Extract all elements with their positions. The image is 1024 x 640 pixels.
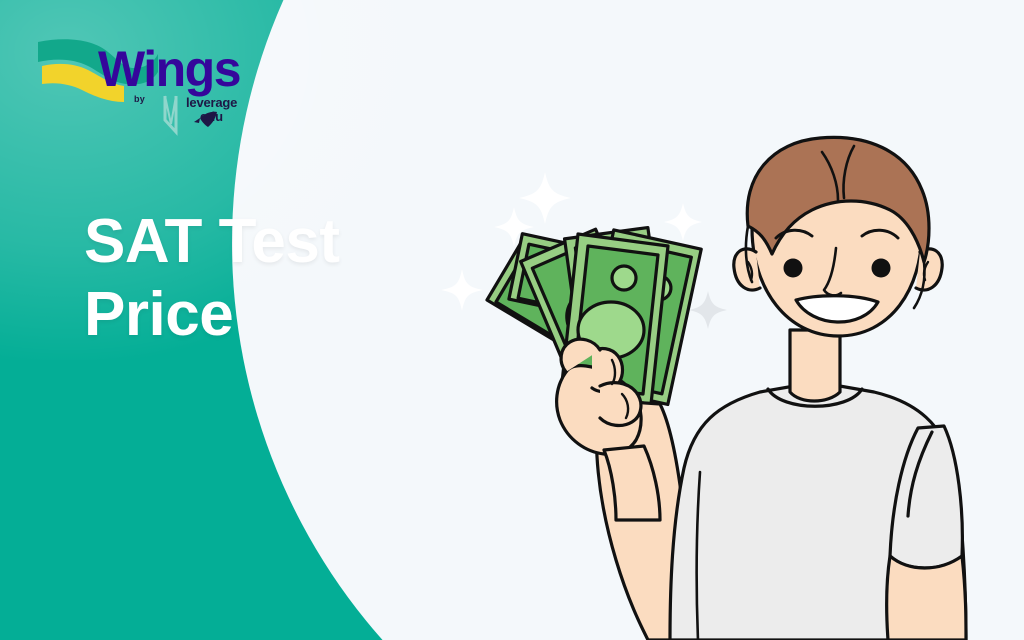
- logo-wordmark: Wings: [98, 44, 240, 94]
- person-figure: [557, 137, 966, 640]
- neck: [790, 330, 840, 401]
- page-title: SAT Test Price: [84, 206, 464, 351]
- right-forearm: [887, 556, 966, 640]
- right-ear: [916, 249, 942, 290]
- middle-finger: [600, 383, 641, 426]
- sparkle-icon: [519, 172, 571, 224]
- right-eye: [872, 259, 891, 278]
- logo-by-label: by: [134, 94, 145, 104]
- wings-logo[interactable]: Wings by leverage edu: [24, 28, 254, 138]
- sparkle-group-white: [689, 291, 727, 329]
- logo-partner-lockup: leverage edu: [164, 94, 254, 134]
- sparkle-icon: [689, 291, 727, 329]
- headline-line-2: Price: [84, 279, 464, 352]
- logo-partner-line2: edu: [200, 110, 223, 125]
- headline-line-1: SAT Test: [84, 206, 464, 279]
- sparkle-icon: [664, 203, 702, 241]
- left-eye: [784, 259, 803, 278]
- banner-root: Wings by leverage edu SAT Test Price: [0, 0, 1024, 640]
